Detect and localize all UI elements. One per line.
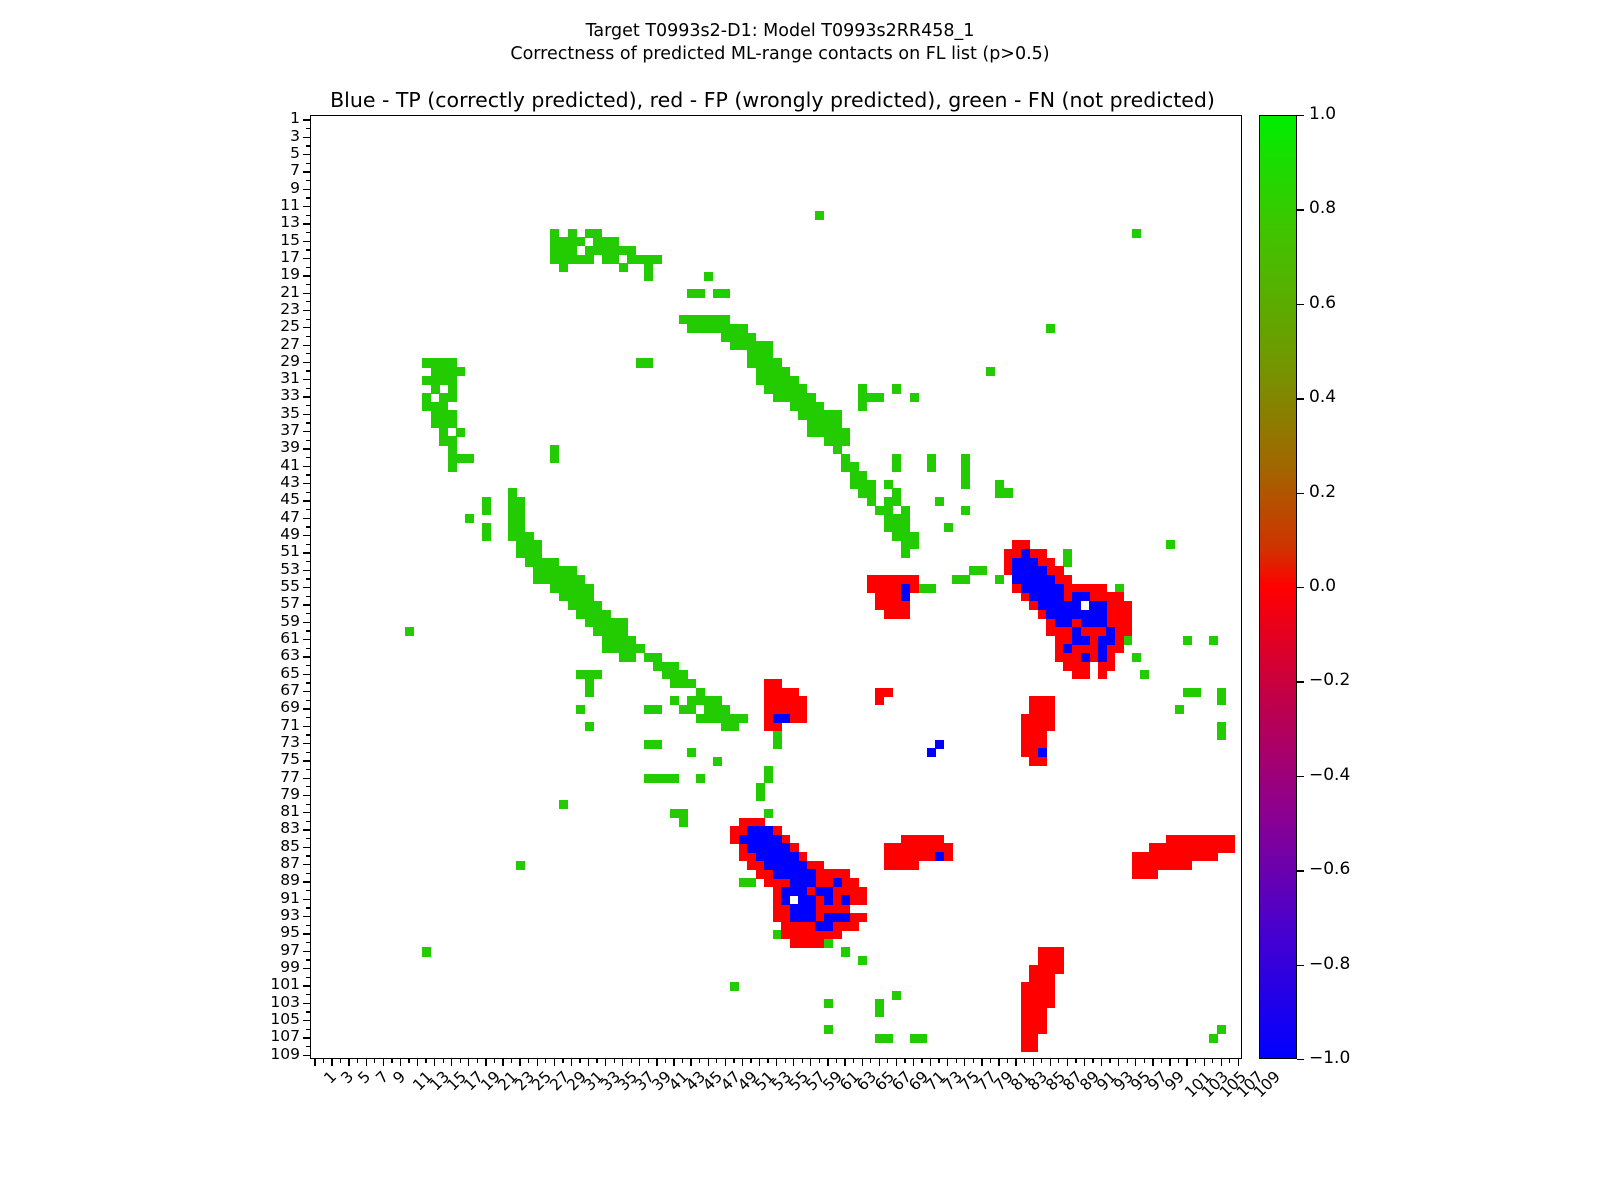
x-tick-major	[1033, 1059, 1034, 1066]
contact-cell-fn	[439, 376, 448, 385]
contact-cell-tp	[935, 852, 944, 861]
contact-cell-fn	[824, 999, 833, 1008]
contact-cell-fn	[739, 714, 748, 723]
x-tick-minor	[1041, 1059, 1042, 1063]
x-tick-major	[502, 1059, 503, 1066]
y-tick-major	[303, 933, 310, 934]
contact-cell-fn	[550, 454, 559, 463]
y-tick-major	[303, 1055, 310, 1056]
y-tick-major	[303, 951, 310, 952]
y-tick-minor	[306, 232, 310, 233]
contact-cell-fn	[619, 263, 628, 272]
x-axis-tick-label: 9	[391, 1069, 409, 1087]
contact-cell-fp	[858, 895, 867, 904]
contact-cell-fp	[1183, 861, 1192, 870]
x-tick-major	[400, 1059, 401, 1066]
y-axis-tick-label: 67	[258, 683, 300, 699]
y-tick-minor	[306, 838, 310, 839]
x-tick-minor	[374, 1059, 375, 1063]
y-tick-minor	[306, 925, 310, 926]
contact-cell-fn	[824, 1025, 833, 1034]
contact-cell-fn	[884, 523, 893, 532]
colorbar-tick-label: −0.8	[1309, 956, 1350, 973]
y-axis-tick-label: 85	[258, 839, 300, 855]
y-tick-major	[303, 119, 310, 120]
contact-cell-fn	[559, 800, 568, 809]
y-tick-major	[303, 726, 310, 727]
y-axis-tick-label: 81	[258, 804, 300, 820]
y-axis-tick-label: 41	[258, 458, 300, 474]
x-tick-major	[314, 1059, 315, 1066]
y-tick-major	[303, 345, 310, 346]
x-tick-minor	[1127, 1059, 1128, 1063]
contact-cell-fp	[910, 584, 919, 593]
contact-cell-fn	[1166, 540, 1175, 549]
contact-cell-fn	[1183, 636, 1192, 645]
contact-cell-fp	[1046, 999, 1055, 1008]
x-tick-minor	[477, 1059, 478, 1063]
contact-cell-tp	[824, 921, 833, 930]
y-tick-major	[303, 518, 310, 519]
contact-cell-fn	[1217, 731, 1226, 740]
contact-cell-fp	[833, 930, 842, 939]
y-tick-major	[303, 708, 310, 709]
contact-cell-fn	[482, 532, 491, 541]
x-tick-minor	[1195, 1059, 1196, 1063]
y-tick-major	[303, 414, 310, 415]
contact-cell-fn	[927, 462, 936, 471]
y-tick-minor	[306, 665, 310, 666]
contact-cell-fp	[858, 913, 867, 922]
x-tick-minor	[443, 1059, 444, 1063]
contact-cell-fn	[696, 289, 705, 298]
y-axis-tick-label: 77	[258, 770, 300, 786]
colorbar-tick-label: −0.4	[1309, 767, 1350, 784]
contact-cell-fn	[978, 566, 987, 575]
contact-cell-fn	[593, 670, 602, 679]
x-tick-minor	[904, 1059, 905, 1063]
x-tick-minor	[391, 1059, 392, 1063]
colorbar-tick	[1297, 776, 1304, 777]
colorbar-tick-label: 0.4	[1309, 389, 1336, 406]
y-tick-major	[303, 293, 310, 294]
y-tick-minor	[306, 786, 310, 787]
y-tick-minor	[306, 977, 310, 978]
x-tick-major	[930, 1059, 931, 1066]
x-axis-tick-label: 1	[322, 1069, 340, 1087]
x-tick-minor	[408, 1059, 409, 1063]
colorbar-tick-label: 1.0	[1309, 106, 1336, 123]
contact-cell-tp	[798, 913, 807, 922]
y-tick-major	[303, 206, 310, 207]
y-axis-tick-label: 57	[258, 596, 300, 612]
y-axis-tick-label: 17	[258, 250, 300, 266]
contact-cell-fn	[1209, 636, 1218, 645]
y-tick-major	[303, 795, 310, 796]
x-tick-minor	[357, 1059, 358, 1063]
x-tick-minor	[1109, 1059, 1110, 1063]
x-tick-major	[366, 1059, 367, 1066]
y-axis-tick-label: 31	[258, 371, 300, 387]
y-axis-tick-label: 33	[258, 388, 300, 404]
x-tick-major	[776, 1059, 777, 1066]
contact-cell-fn	[1063, 558, 1072, 567]
y-tick-major	[303, 985, 310, 986]
contact-map-plot	[310, 115, 1242, 1059]
contact-cell-fn	[405, 627, 414, 636]
x-tick-major	[622, 1059, 623, 1066]
x-tick-major	[485, 1059, 486, 1066]
contact-cell-fn	[627, 246, 636, 255]
y-axis-tick-label: 83	[258, 821, 300, 837]
contact-cell-tp	[1038, 748, 1047, 757]
contact-cell-fn	[713, 757, 722, 766]
x-tick-minor	[836, 1059, 837, 1063]
y-axis-tick-label: 11	[258, 198, 300, 214]
y-axis-tick-label: 61	[258, 631, 300, 647]
y-tick-minor	[306, 630, 310, 631]
contact-cell-fn	[935, 497, 944, 506]
y-tick-major	[303, 1037, 310, 1038]
contact-cell-fn	[448, 393, 457, 402]
contact-cell-fp	[884, 688, 893, 697]
contact-cell-tp	[1089, 618, 1098, 627]
y-axis-tick-label: 29	[258, 354, 300, 370]
contact-cell-fn	[704, 272, 713, 281]
y-axis-tick-label: 9	[258, 181, 300, 197]
y-axis-tick-label: 63	[258, 648, 300, 664]
y-axis-tick-label: 103	[258, 995, 300, 1011]
colorbar-tick-label: 0.8	[1309, 200, 1336, 217]
x-axis-tick-label: 3	[339, 1069, 357, 1087]
x-tick-minor	[1092, 1059, 1093, 1063]
y-tick-minor	[306, 301, 310, 302]
contact-cell-fn	[448, 462, 457, 471]
y-tick-minor	[306, 128, 310, 129]
x-tick-major	[519, 1059, 520, 1066]
colorbar-tick-label: 0.6	[1309, 295, 1336, 312]
x-tick-minor	[699, 1059, 700, 1063]
contact-cell-fp	[1149, 869, 1158, 878]
y-tick-minor	[306, 596, 310, 597]
y-tick-major	[303, 310, 310, 311]
x-tick-minor	[750, 1059, 751, 1063]
x-tick-major	[1152, 1059, 1153, 1066]
contact-cell-fp	[798, 939, 807, 948]
x-tick-major	[1050, 1059, 1051, 1066]
y-tick-major	[303, 431, 310, 432]
contact-cell-tp	[1098, 610, 1107, 619]
colorbar-tick-label: −0.6	[1309, 861, 1350, 878]
x-tick-major	[742, 1059, 743, 1066]
x-tick-major	[862, 1059, 863, 1066]
figure-title-line1: Target T0993s2-D1: Model T0993s2RR458_1	[0, 20, 1560, 43]
contact-cell-fn	[995, 575, 1004, 584]
contact-cell-fn	[644, 272, 653, 281]
colorbar-tick	[1297, 870, 1304, 871]
colorbar-tick	[1297, 398, 1304, 399]
x-tick-major	[1204, 1059, 1205, 1066]
contact-cell-fp	[1098, 670, 1107, 679]
contact-cell-fp	[944, 852, 953, 861]
x-tick-minor	[665, 1059, 666, 1063]
y-tick-minor	[306, 890, 310, 891]
y-axis-tick-label: 101	[258, 977, 300, 993]
y-tick-minor	[306, 1046, 310, 1047]
contact-cell-fn	[1046, 324, 1055, 333]
x-tick-minor	[1212, 1059, 1213, 1063]
x-tick-major	[810, 1059, 811, 1066]
x-tick-major	[1135, 1059, 1136, 1066]
x-tick-minor	[545, 1059, 546, 1063]
x-tick-major	[1084, 1059, 1085, 1066]
y-tick-minor	[306, 492, 310, 493]
x-axis-tick-label: 7	[373, 1069, 391, 1087]
contact-cell-fn	[841, 947, 850, 956]
y-tick-major	[303, 466, 310, 467]
contact-cell-fp	[1106, 662, 1115, 671]
x-tick-major	[844, 1059, 845, 1066]
contact-cell-fp	[850, 921, 859, 930]
contact-cell-fp	[1029, 1043, 1038, 1052]
contact-cell-tp	[781, 714, 790, 723]
contact-cell-fn	[764, 774, 773, 783]
y-tick-major	[303, 137, 310, 138]
x-tick-minor	[323, 1059, 324, 1063]
y-tick-minor	[306, 855, 310, 856]
contact-cell-tp	[1081, 636, 1090, 645]
x-tick-major	[1186, 1059, 1187, 1066]
x-tick-minor	[1178, 1059, 1179, 1063]
contact-cell-tp	[833, 878, 842, 887]
contact-cell-fn	[892, 462, 901, 471]
y-axis-tick-label: 55	[258, 579, 300, 595]
contact-cell-fn	[764, 809, 773, 818]
y-tick-major	[303, 864, 310, 865]
y-tick-minor	[306, 994, 310, 995]
contact-cell-fn	[815, 211, 824, 220]
y-tick-minor	[306, 336, 310, 337]
contact-cell-fn	[550, 445, 559, 454]
x-tick-minor	[1075, 1059, 1076, 1063]
contact-cell-fn	[422, 947, 431, 956]
x-tick-major	[451, 1059, 452, 1066]
y-tick-major	[303, 656, 310, 657]
x-tick-major	[1067, 1059, 1068, 1066]
contact-cell-fn	[927, 584, 936, 593]
colorbar-tick	[1297, 209, 1304, 210]
y-tick-minor	[306, 353, 310, 354]
x-tick-major	[656, 1059, 657, 1066]
x-tick-minor	[511, 1059, 512, 1063]
y-tick-major	[303, 154, 310, 155]
contact-cell-fn	[670, 774, 679, 783]
x-tick-minor	[716, 1059, 717, 1063]
y-axis-tick-label: 7	[258, 163, 300, 179]
contact-cell-fn	[585, 255, 594, 264]
x-tick-major	[913, 1059, 914, 1066]
contact-cell-tp	[807, 904, 816, 913]
y-tick-major	[303, 1003, 310, 1004]
contact-cell-fp	[1038, 757, 1047, 766]
contact-cell-tp	[927, 748, 936, 757]
colorbar-tick-label: −1.0	[1309, 1050, 1350, 1067]
x-tick-major	[1118, 1059, 1119, 1066]
y-tick-major	[303, 448, 310, 449]
x-tick-minor	[631, 1059, 632, 1063]
contact-cell-fn	[696, 774, 705, 783]
y-axis-tick-label: 79	[258, 787, 300, 803]
contact-cell-fp	[1157, 861, 1166, 870]
contact-cell-fn	[653, 740, 662, 749]
contact-cell-fn	[858, 402, 867, 411]
y-tick-major	[303, 968, 310, 969]
contact-cell-fp	[1209, 852, 1218, 861]
y-tick-minor	[306, 682, 310, 683]
contact-cell-fn	[747, 878, 756, 887]
colorbar-tick	[1297, 493, 1304, 494]
x-tick-major	[998, 1059, 999, 1066]
y-axis-tick-label: 65	[258, 666, 300, 682]
x-tick-minor	[1007, 1059, 1008, 1063]
x-tick-minor	[956, 1059, 957, 1063]
y-axis-tick-label: 109	[258, 1047, 300, 1063]
contact-cell-fn	[1132, 229, 1141, 238]
y-tick-major	[303, 189, 310, 190]
y-axis-tick-label: 71	[258, 718, 300, 734]
contact-cell-tp	[901, 592, 910, 601]
y-tick-major	[303, 171, 310, 172]
contact-cell-fp	[781, 696, 790, 705]
y-tick-major	[303, 535, 310, 536]
x-tick-major	[896, 1059, 897, 1066]
x-tick-minor	[1144, 1059, 1145, 1063]
contact-cell-fn	[568, 246, 577, 255]
contact-cell-fn	[559, 263, 568, 272]
contact-cell-fn	[644, 263, 653, 272]
contact-cell-tp	[1063, 618, 1072, 627]
contact-cell-fn	[456, 367, 465, 376]
contact-cell-fn	[576, 237, 585, 246]
contact-cell-tp	[841, 895, 850, 904]
y-tick-major	[303, 396, 310, 397]
contact-cell-fn	[456, 428, 465, 437]
y-tick-minor	[306, 197, 310, 198]
contact-cell-fn	[1140, 670, 1149, 679]
y-axis-tick-label: 21	[258, 285, 300, 301]
colorbar-gradient	[1259, 115, 1297, 1059]
y-tick-major	[303, 639, 310, 640]
contact-cell-fn	[773, 740, 782, 749]
contact-cell-fn	[1132, 653, 1141, 662]
y-axis-tick-label: 39	[258, 440, 300, 456]
contact-cell-fn	[1175, 705, 1184, 714]
contact-cell-fn	[585, 722, 594, 731]
x-tick-minor	[682, 1059, 683, 1063]
contact-cell-fp	[884, 592, 893, 601]
y-tick-major	[303, 552, 310, 553]
y-tick-major	[303, 881, 310, 882]
y-tick-major	[303, 743, 310, 744]
y-tick-minor	[306, 284, 310, 285]
y-tick-minor	[306, 319, 310, 320]
y-tick-minor	[306, 769, 310, 770]
contact-map-cells	[311, 116, 1241, 1058]
contact-cell-tp	[824, 895, 833, 904]
y-axis-tick-label: 73	[258, 735, 300, 751]
y-tick-major	[303, 570, 310, 571]
contact-cell-fn	[841, 436, 850, 445]
x-tick-major	[759, 1059, 760, 1066]
contact-cell-fn	[1004, 488, 1013, 497]
y-tick-major	[303, 379, 310, 380]
contact-cell-fn	[986, 367, 995, 376]
y-axis-tick-label: 25	[258, 319, 300, 335]
contact-cell-tp	[1106, 636, 1115, 645]
contact-cell-fn	[1123, 636, 1132, 645]
y-tick-major	[303, 604, 310, 605]
y-tick-minor	[306, 405, 310, 406]
colorbar-tick	[1297, 587, 1304, 588]
x-tick-major	[434, 1059, 435, 1066]
x-tick-minor	[1229, 1059, 1230, 1063]
x-tick-minor	[528, 1059, 529, 1063]
contact-cell-fn	[1217, 696, 1226, 705]
contact-cell-fn	[875, 1008, 884, 1017]
contact-cell-fp	[1226, 843, 1235, 852]
y-tick-minor	[306, 804, 310, 805]
x-tick-major	[1238, 1059, 1239, 1066]
contact-cell-tp	[935, 740, 944, 749]
y-tick-minor	[306, 215, 310, 216]
y-axis-tick-label: 19	[258, 267, 300, 283]
y-axis-tick-label: 13	[258, 215, 300, 231]
figure-title-line2: Correctness of predicted ML-range contac…	[0, 43, 1560, 66]
y-tick-minor	[306, 163, 310, 164]
x-tick-minor	[853, 1059, 854, 1063]
x-tick-major	[588, 1059, 589, 1066]
y-axis-tick-label: 95	[258, 925, 300, 941]
colorbar-tick	[1297, 304, 1304, 305]
contact-cell-fn	[961, 575, 970, 584]
colorbar: 1.00.80.60.40.20.0−0.2−0.4−0.6−0.8−1.0	[1259, 115, 1297, 1059]
x-tick-major	[639, 1059, 640, 1066]
x-tick-minor	[1161, 1059, 1162, 1063]
y-tick-minor	[306, 440, 310, 441]
y-axis-tick-label: 87	[258, 856, 300, 872]
y-axis-tick-label: 89	[258, 873, 300, 889]
x-tick-major	[417, 1059, 418, 1066]
y-tick-major	[303, 674, 310, 675]
y-tick-major	[303, 847, 310, 848]
y-axis-tick-label: 45	[258, 492, 300, 508]
y-tick-minor	[306, 561, 310, 562]
y-axis-tick-label: 15	[258, 233, 300, 249]
contact-cell-fn	[679, 818, 688, 827]
x-tick-major	[383, 1059, 384, 1066]
y-tick-major	[303, 899, 310, 900]
x-tick-minor	[767, 1059, 768, 1063]
x-tick-minor	[870, 1059, 871, 1063]
contact-cell-fp	[773, 722, 782, 731]
y-tick-major	[303, 778, 310, 779]
y-axis-tick-label: 5	[258, 146, 300, 162]
contact-cell-fn	[576, 705, 585, 714]
y-tick-minor	[306, 959, 310, 960]
x-tick-minor	[802, 1059, 803, 1063]
contact-cell-fp	[1038, 1025, 1047, 1034]
x-tick-major	[964, 1059, 965, 1066]
